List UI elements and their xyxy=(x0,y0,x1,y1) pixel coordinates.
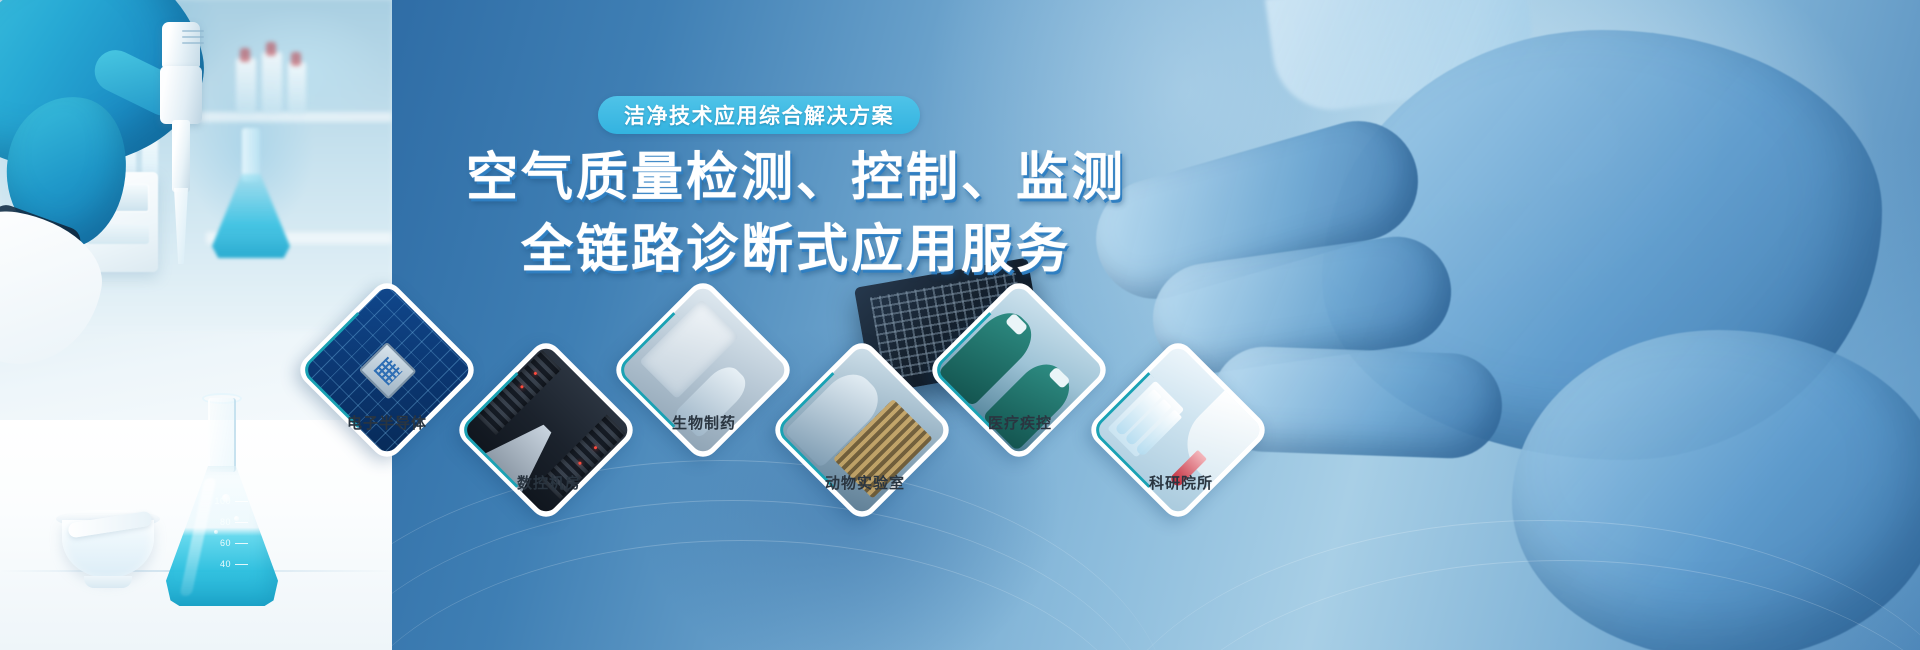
industry-card-research[interactable] xyxy=(1085,337,1272,524)
industry-card-label: 生物制药 xyxy=(624,412,784,433)
industry-card-data-center[interactable] xyxy=(453,337,640,524)
industry-card-label: 电子半导体 xyxy=(307,412,467,433)
industry-card-row: 电子半导体 数控机房 生物制药 xyxy=(0,0,1920,650)
industry-card-label: 医疗疾控 xyxy=(940,412,1100,433)
industry-card-semiconductor[interactable] xyxy=(294,277,481,464)
industry-card-label: 数控机房 xyxy=(469,472,629,493)
industry-card-medical[interactable] xyxy=(926,277,1113,464)
industry-card-label: 动物实验室 xyxy=(785,472,945,493)
industry-card-label: 科研院所 xyxy=(1101,472,1261,493)
industry-card-biopharma[interactable] xyxy=(610,277,797,464)
hero-banner: 100 80 60 40 洁净技术应用综合解决方案 空气质量检测、控制、 xyxy=(0,0,1920,650)
industry-card-animal-lab[interactable] xyxy=(769,337,956,524)
